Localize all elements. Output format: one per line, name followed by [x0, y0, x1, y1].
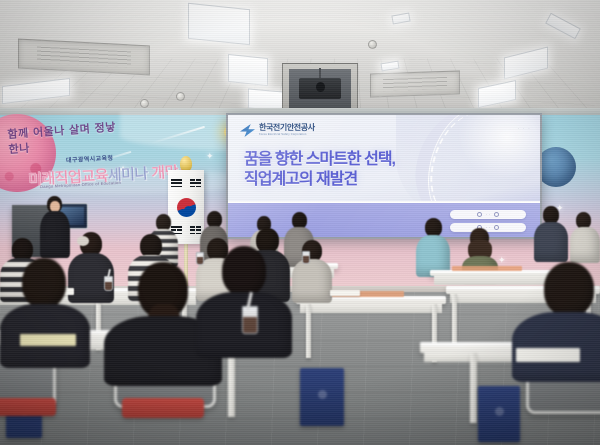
- slide-title-line-1: 꿈을 향한 스마트한 선택,: [244, 150, 460, 170]
- navy-tote-bag: [300, 368, 344, 426]
- audience-head: [544, 262, 594, 316]
- audience-member: [534, 206, 568, 260]
- slide-pill-dot-icon: [477, 212, 482, 217]
- desk-leg: [470, 353, 477, 423]
- handout-paper: [330, 290, 360, 296]
- audience-member: [416, 218, 450, 276]
- desk-leg: [306, 304, 311, 358]
- handout-paper: [516, 348, 580, 362]
- slide-logo-name-kr: 한국전기안전공사: [259, 124, 315, 132]
- mural-star-icon: ✦: [498, 256, 506, 265]
- audience-member: [570, 212, 600, 262]
- audience-hair-clip: [77, 236, 89, 246]
- audience-member-foreground: [0, 258, 90, 368]
- audience-member-foreground: [196, 246, 292, 356]
- projector-lens-icon: [316, 82, 326, 92]
- photo-scene: ✦ ✦ ✦ ✦ ✦ 함께 어울나 살며 정낳한나 대구광역시교육청 미래직업교육…: [0, 0, 600, 445]
- trigram-geon-icon: [171, 179, 182, 188]
- sprinkler-icon: [368, 40, 377, 49]
- slide-title-line-2: 직업계고의 재발견: [244, 170, 460, 190]
- iced-coffee-cup: [302, 251, 310, 264]
- ceiling: [0, 0, 600, 118]
- slide-logo: 한국전기안전공사 Korea Electrical Safety Corpora…: [240, 124, 315, 137]
- cup-drink: [303, 256, 309, 263]
- sprinkler-icon: [140, 99, 149, 108]
- presenter-torso: [40, 211, 70, 258]
- cup-lid: [302, 251, 310, 254]
- audience-torso: [534, 222, 568, 262]
- audience-head: [22, 258, 66, 308]
- kesco-bolt-icon: [240, 124, 255, 137]
- presenter: [40, 196, 70, 258]
- desk-apron: [300, 304, 442, 313]
- slide-pill-dot-icon: [494, 212, 499, 217]
- audience-torso: [292, 259, 332, 303]
- slide-pill-1-text: · ·: [486, 213, 490, 217]
- sprinkler-icon: [176, 92, 185, 101]
- slide-logo-names: 한국전기안전공사 Korea Electrical Safety Corpora…: [259, 124, 315, 136]
- cup-lid: [242, 306, 258, 311]
- mural-star-icon: ✦: [206, 152, 214, 161]
- audience-torso: [570, 227, 600, 263]
- cup-drink: [243, 317, 257, 333]
- iced-coffee-cup: [242, 306, 258, 334]
- slide-logo-name-en: Korea Electrical Safety Corporation: [259, 134, 315, 137]
- handout-paper: [20, 334, 76, 346]
- slide-pill-1: · ·: [450, 210, 526, 219]
- audience-member: [292, 240, 332, 302]
- audience-head: [222, 246, 266, 296]
- banner-subtitle: 대구광역시교육청: [66, 153, 114, 164]
- ceiling-light-panel: [228, 54, 268, 86]
- trigram-gam-icon: [190, 179, 201, 188]
- audience-torso: [512, 312, 600, 382]
- taeguk-symbol-icon: [177, 198, 196, 217]
- slide-corner-dots: · · ·: [518, 127, 531, 131]
- navy-tote-bag: [478, 386, 520, 442]
- audience-member-foreground: [512, 262, 600, 380]
- chair-seat: [122, 398, 204, 418]
- chair-seat: [0, 398, 56, 416]
- ceiling-light-panel: [188, 3, 250, 46]
- desk-leg: [452, 294, 457, 344]
- slide-title: 꿈을 향한 스마트한 선택, 직업계고의 재발견: [244, 150, 460, 189]
- cassette-air-conditioner: [370, 70, 460, 97]
- mural-planet-blue: [536, 147, 576, 187]
